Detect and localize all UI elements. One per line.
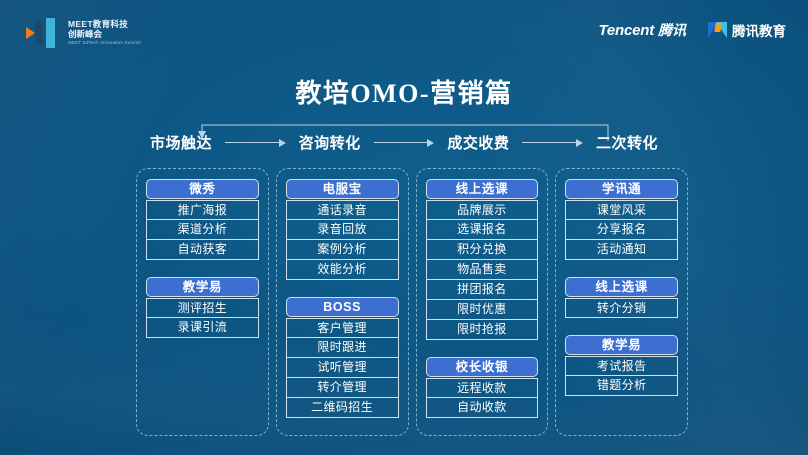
meet-logo-icon xyxy=(26,18,60,48)
product-feature-item[interactable]: 积分兑换 xyxy=(426,240,539,260)
flow-stage-2: 成交收费 xyxy=(447,132,509,153)
product-feature-item[interactable]: 限时抢报 xyxy=(426,320,539,340)
product-feature-item[interactable]: 客户管理 xyxy=(286,318,399,338)
product-feature-item[interactable]: 二维码招生 xyxy=(286,398,399,418)
stage-column-0: 微秀推广海报渠道分析自动获客教学易测评招生录课引流 xyxy=(136,168,269,436)
product-card: 线上选课品牌展示选课报名积分兑换物品售卖拼团报名限时优惠限时抢报 xyxy=(426,179,539,340)
product-feature-item[interactable]: 选课报名 xyxy=(426,220,539,240)
product-feature-item[interactable]: 通话录音 xyxy=(286,200,399,220)
product-feature-item[interactable]: 限时优惠 xyxy=(426,300,539,320)
product-feature-list: 客户管理限时跟进试听管理转介管理二维码招生 xyxy=(286,318,399,418)
tencent-education-logo: 腾讯教育 xyxy=(708,20,786,40)
product-feature-list: 考试报告错题分析 xyxy=(565,356,678,396)
product-feature-item[interactable]: 考试报告 xyxy=(565,356,678,376)
product-feature-list: 转介分销 xyxy=(565,298,678,318)
stage-columns: 微秀推广海报渠道分析自动获客教学易测评招生录课引流电服宝通话录音录音回放案例分析… xyxy=(136,168,688,436)
product-feature-item[interactable]: 试听管理 xyxy=(286,358,399,378)
product-feature-item[interactable]: 转介管理 xyxy=(286,378,399,398)
tencent-edu-logo-icon xyxy=(708,22,727,38)
meet-brand-subtitle: MEET EdTech Innovation Summit xyxy=(68,41,141,46)
product-feature-item[interactable]: 课堂风采 xyxy=(565,200,678,220)
product-feature-item[interactable]: 转介分销 xyxy=(565,298,678,318)
product-feature-item[interactable]: 录音回放 xyxy=(286,220,399,240)
product-card: 线上选课转介分销 xyxy=(565,277,678,318)
tencent-logo-cn: 腾讯 xyxy=(658,20,686,40)
tencent-logo: Tencent 腾讯 xyxy=(598,20,686,40)
product-feature-list: 品牌展示选课报名积分兑换物品售卖拼团报名限时优惠限时抢报 xyxy=(426,200,539,340)
product-feature-item[interactable]: 测评招生 xyxy=(146,298,259,318)
flow-stage-0: 市场触达 xyxy=(150,132,212,153)
product-feature-item[interactable]: 自动获客 xyxy=(146,240,259,260)
right-arrow-icon xyxy=(518,137,587,147)
product-feature-list: 推广海报渠道分析自动获客 xyxy=(146,200,259,260)
product-card: 电服宝通话录音录音回放案例分析效能分析 xyxy=(286,179,399,280)
stage-flow: 市场触达 咨询转化 成交收费 二次转化 xyxy=(150,131,658,153)
product-card-header[interactable]: BOSS xyxy=(286,297,399,317)
product-card-header[interactable]: 学讯通 xyxy=(565,179,678,199)
product-feature-list: 远程收款自动收款 xyxy=(426,378,539,418)
product-feature-item[interactable]: 拼团报名 xyxy=(426,280,539,300)
product-card: 微秀推广海报渠道分析自动获客 xyxy=(146,179,259,260)
stage-column-1: 电服宝通话录音录音回放案例分析效能分析BOSS客户管理限时跟进试听管理转介管理二… xyxy=(276,168,409,436)
product-feature-item[interactable]: 推广海报 xyxy=(146,200,259,220)
slide-canvas: MEET教育科技 创新峰会 MEET EdTech Innovation Sum… xyxy=(0,0,808,455)
product-feature-list: 通话录音录音回放案例分析效能分析 xyxy=(286,200,399,280)
product-feature-item[interactable]: 活动通知 xyxy=(565,240,678,260)
tencent-brand-group: Tencent 腾讯 腾讯教育 xyxy=(598,20,786,40)
product-card: 教学易考试报告错题分析 xyxy=(565,335,678,396)
right-arrow-icon xyxy=(221,137,290,147)
flow-stage-3: 二次转化 xyxy=(596,132,658,153)
tencent-logo-en: Tencent xyxy=(598,22,654,39)
product-card: 教学易测评招生录课引流 xyxy=(146,277,259,338)
product-feature-item[interactable]: 渠道分析 xyxy=(146,220,259,240)
product-feature-item[interactable]: 品牌展示 xyxy=(426,200,539,220)
product-feature-item[interactable]: 物品售卖 xyxy=(426,260,539,280)
product-feature-item[interactable]: 案例分析 xyxy=(286,240,399,260)
stage-column-3: 学讯通课堂风采分享报名活动通知线上选课转介分销教学易考试报告错题分析 xyxy=(555,168,688,436)
product-card-header[interactable]: 线上选课 xyxy=(565,277,678,297)
product-feature-item[interactable]: 分享报名 xyxy=(565,220,678,240)
product-card-header[interactable]: 教学易 xyxy=(565,335,678,355)
product-feature-item[interactable]: 自动收款 xyxy=(426,398,539,418)
product-card-header[interactable]: 教学易 xyxy=(146,277,259,297)
product-card-header[interactable]: 线上选课 xyxy=(426,179,539,199)
meet-brand-text: MEET教育科技 创新峰会 MEET EdTech Innovation Sum… xyxy=(68,20,141,45)
product-card-header[interactable]: 微秀 xyxy=(146,179,259,199)
product-feature-item[interactable]: 错题分析 xyxy=(565,376,678,396)
right-arrow-icon xyxy=(370,137,439,147)
product-feature-item[interactable]: 限时跟进 xyxy=(286,338,399,358)
product-feature-item[interactable]: 远程收款 xyxy=(426,378,539,398)
product-card-header[interactable]: 电服宝 xyxy=(286,179,399,199)
stage-column-2: 线上选课品牌展示选课报名积分兑换物品售卖拼团报名限时优惠限时抢报校长收银远程收款… xyxy=(416,168,549,436)
product-card: 学讯通课堂风采分享报名活动通知 xyxy=(565,179,678,260)
product-feature-item[interactable]: 录课引流 xyxy=(146,318,259,338)
product-feature-item[interactable]: 效能分析 xyxy=(286,260,399,280)
meet-brand-line2: 创新峰会 xyxy=(68,30,141,39)
product-feature-list: 课堂风采分享报名活动通知 xyxy=(565,200,678,260)
product-card: 校长收银远程收款自动收款 xyxy=(426,357,539,418)
tencent-education-label: 腾讯教育 xyxy=(732,20,786,40)
product-card-header[interactable]: 校长收银 xyxy=(426,357,539,377)
flow-stage-1: 咨询转化 xyxy=(299,132,361,153)
product-feature-list: 测评招生录课引流 xyxy=(146,298,259,338)
meet-summit-brand: MEET教育科技 创新峰会 MEET EdTech Innovation Sum… xyxy=(26,18,141,48)
product-card: BOSS客户管理限时跟进试听管理转介管理二维码招生 xyxy=(286,297,399,418)
page-title: 教培OMO-营销篇 xyxy=(0,73,808,110)
